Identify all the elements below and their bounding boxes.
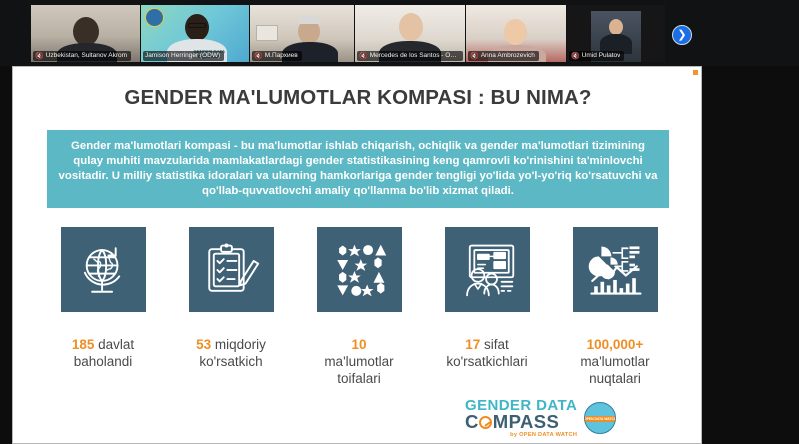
stat-number: 17	[465, 337, 480, 352]
slide-corner-marker	[693, 70, 698, 75]
participant-tile-active-speaker[interactable]: GENDER DATAC◎MPASS Jamison Herringer (OD…	[141, 5, 249, 62]
participant-name-badge: 🔇 М.Пархиев	[252, 51, 302, 61]
stat-card: 10ma'lumotlartoifalari	[295, 227, 423, 387]
mic-muted-icon: 🔇	[254, 53, 263, 60]
logo-line-2: C MPASS	[465, 413, 577, 432]
participant-name-badge: 🔇 Uzbekistan, Sultanov Akrom	[33, 51, 131, 61]
logo-tagline: by OPEN DATA WATCH	[465, 433, 577, 439]
presenter-board-icon	[445, 227, 530, 312]
participant-name-badge: Jamison Herringer (ODW)	[143, 51, 224, 61]
participant-name-badge: 🔇 Anna Ambrozevich	[468, 51, 539, 61]
laptop-icon	[256, 25, 278, 41]
logo-line-2-post: MPASS	[493, 413, 559, 432]
mic-muted-icon: 🔇	[470, 53, 479, 60]
participant-tile[interactable]: 🔇 Uzbekistan, Sultanov Akrom	[31, 5, 140, 62]
stat-number: 10	[351, 337, 366, 352]
globe-icon	[61, 227, 146, 312]
slide-title: GENDER MA'LUMOTLAR KOMPASI : BU NIMA?	[13, 86, 703, 110]
stat-text: 100,000+ma'lumotlarnuqtalari	[580, 336, 649, 387]
description-callout-box: Gender ma'lumotlari kompasi - bu ma'lumo…	[47, 130, 669, 208]
participant-name: Anna Ambrozevich	[481, 52, 535, 60]
participant-tile[interactable]: 🔇 Mercedes de los Santos - Open ...	[355, 5, 465, 62]
clipboard-checklist-icon	[189, 227, 274, 312]
mic-muted-icon: 🔇	[571, 53, 580, 60]
participant-name: М.Пархиев	[265, 52, 298, 60]
stat-number: 53	[196, 337, 211, 352]
description-text: Gender ma'lumotlari kompasi - bu ma'lumo…	[57, 139, 659, 200]
gender-data-compass-logo: GENDER DATA C MPASS by OPEN DATA WATCH O…	[465, 398, 616, 438]
chevron-right-icon[interactable]: ❯	[672, 25, 692, 45]
participant-name-badge: 🔇 Umid Pulatov	[569, 51, 624, 61]
stat-text: 185 davlatbaholandi	[72, 336, 134, 370]
compass-ring-icon	[479, 416, 492, 429]
participant-name: Uzbekistan, Sultanov Akrom	[46, 52, 127, 60]
participant-tile[interactable]: 🔇 М.Пархиев	[250, 5, 354, 62]
participant-name: Jamison Herringer (ODW)	[145, 52, 220, 60]
person-hair	[297, 16, 321, 24]
odw-badge-band: OPEN DATA WATCH	[585, 416, 615, 422]
presentation-slide: GENDER MA'LUMOTLAR KOMPASI : BU NIMA? Ge…	[12, 66, 702, 444]
stat-card: 185 davlatbaholandi	[39, 227, 167, 387]
stat-text: 10ma'lumotlartoifalari	[324, 336, 393, 387]
mic-muted-icon: 🔇	[35, 53, 44, 60]
participant-filmstrip: 🔇 Uzbekistan, Sultanov Akrom GENDER DATA…	[0, 0, 799, 66]
odw-badge-text: OPEN DATA WATCH	[584, 417, 616, 421]
stat-number: 185	[72, 337, 95, 352]
uzbekistan-emblem-icon	[145, 8, 164, 27]
person-head	[399, 13, 423, 41]
person-head	[609, 19, 623, 35]
mic-muted-icon: 🔇	[359, 53, 368, 60]
stat-text: 17 sifatko'rsatkichlari	[446, 336, 527, 370]
person-head	[504, 19, 527, 45]
analytics-charts-icon	[573, 227, 658, 312]
person-head	[73, 17, 99, 46]
stat-card: 53 miqdoriyko'rsatkich	[167, 227, 295, 387]
participant-tile[interactable]: 🔇 Umid Pulatov	[567, 5, 665, 62]
stat-card: 100,000+ma'lumotlarnuqtalari	[551, 227, 679, 387]
participant-name: Mercedes de los Santos - Open ...	[370, 52, 459, 60]
participant-name-badge: 🔇 Mercedes de los Santos - Open ...	[357, 51, 463, 61]
eyeglasses-icon	[188, 23, 206, 28]
statistics-row: 185 davlatbaholandi	[39, 227, 679, 387]
stat-text: 53 miqdoriyko'rsatkich	[196, 336, 266, 370]
zoom-meeting-window: 🔇 Uzbekistan, Sultanov Akrom GENDER DATA…	[0, 0, 799, 444]
logo-line-2-pre: C	[465, 413, 479, 432]
participant-tile[interactable]: 🔇 Anna Ambrozevich	[466, 5, 566, 62]
stat-card: 17 sifatko'rsatkichlari	[423, 227, 551, 387]
logo-wordmark: GENDER DATA C MPASS by OPEN DATA WATCH	[465, 398, 577, 438]
shapes-grid-icon	[317, 227, 402, 312]
open-data-watch-globe-icon: OPEN DATA WATCH	[584, 402, 616, 434]
participant-name: Umid Pulatov	[582, 52, 621, 60]
stat-number: 100,000+	[587, 337, 644, 352]
